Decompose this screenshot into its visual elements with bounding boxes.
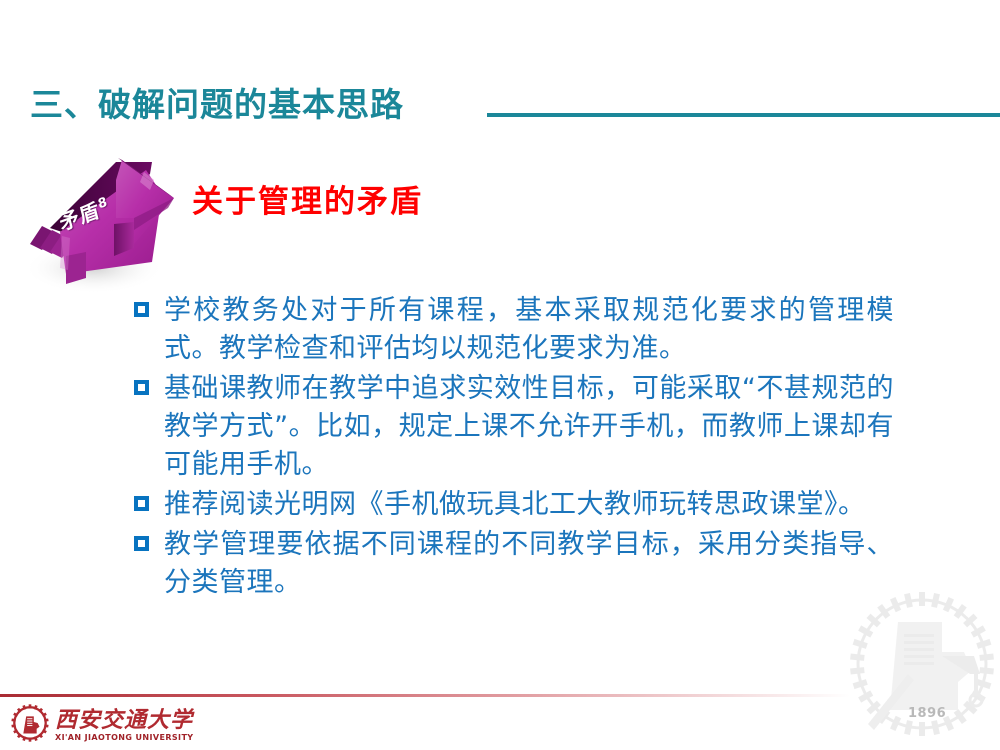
xjtu-gear-emblem-icon	[10, 703, 50, 747]
list-item: 学校教务处对于所有课程，基本采取规范化要求的管理模式。教学检查和评估均以规范化要…	[134, 292, 894, 368]
list-item-text: 教学管理要依据不同课程的不同教学目标，采用分类指导、分类管理。	[164, 526, 894, 602]
hollow-square-bullet-icon	[134, 380, 149, 395]
list-item-text: 推荐阅读光明网《手机做玩具北工大教师玩转思政课堂》。	[164, 486, 894, 524]
list-item-text: 学校教务处对于所有课程，基本采取规范化要求的管理模式。教学检查和评估均以规范化要…	[164, 292, 894, 368]
three-d-right-arrow-icon	[22, 152, 192, 297]
page-title: 三、破解问题的基本思路	[30, 78, 404, 126]
presentation-slide: 1896 三、破解问题的基本思路	[0, 0, 1000, 750]
section-subheading: 关于管理的矛盾	[192, 176, 423, 221]
hollow-square-bullet-icon	[134, 302, 149, 317]
university-name-en: XI'AN JIAOTONG UNIVERSITY	[55, 733, 194, 743]
list-item-text: 基础课教师在教学中追求实效性目标，可能采取“不甚规范的教学方式”。比如，规定上课…	[164, 370, 894, 484]
university-name-cn: 西安交通大学	[55, 708, 194, 732]
hollow-square-bullet-icon	[134, 496, 149, 511]
list-item: 推荐阅读光明网《手机做玩具北工大教师玩转思政课堂》。	[134, 486, 894, 524]
footer-divider	[0, 694, 850, 697]
bullet-list: 学校教务处对于所有课程，基本采取规范化要求的管理模式。教学检查和评估均以规范化要…	[134, 292, 894, 604]
hollow-square-bullet-icon	[134, 536, 149, 551]
list-item: 教学管理要依据不同课程的不同教学目标，采用分类指导、分类管理。	[134, 526, 894, 602]
university-logo: 西安交通大学 XI'AN JIAOTONG UNIVERSITY	[10, 703, 210, 747]
list-item: 基础课教师在教学中追求实效性目标，可能采取“不甚规范的教学方式”。比如，规定上课…	[134, 370, 894, 484]
title-divider	[487, 113, 1000, 117]
watermark-year-label: 1896	[908, 706, 946, 721]
university-logo-text: 西安交通大学 XI'AN JIAOTONG UNIVERSITY	[55, 708, 194, 743]
